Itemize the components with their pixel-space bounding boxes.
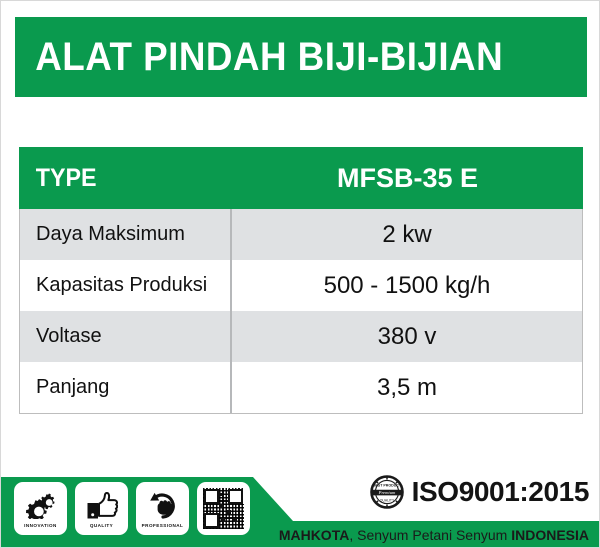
spec-row-label: Daya Maksimum: [20, 209, 232, 260]
svg-text:Premium: Premium: [377, 490, 395, 495]
gears-icon: [24, 489, 58, 523]
header-banner: ALAT PINDAH BIJI-BIJIAN: [15, 17, 587, 97]
badge-group: INNOVATION QUALITY: [14, 482, 250, 535]
spec-row-value: 2 kw: [232, 209, 582, 260]
brand-tagline: MAHKOTA, Senyum Petani Senyum INDONESIA: [279, 527, 589, 543]
tagline-middle: , Senyum Petani Senyum: [349, 527, 511, 543]
fist-arrow-icon: [147, 489, 179, 523]
spec-card: ALAT PINDAH BIJI-BIJIAN TYPE MFSB-35 E D…: [0, 0, 600, 548]
spec-row-label: Voltase: [20, 311, 232, 362]
badge-caption: INNOVATION: [24, 524, 57, 529]
badge-quality: QUALITY: [75, 482, 128, 535]
qr-code-icon[interactable]: [203, 486, 244, 530]
badge-professional: PROFESSIONAL: [136, 482, 189, 535]
footer: INNOVATION QUALITY: [1, 473, 599, 547]
iso-label: ISO9001:2015: [412, 476, 589, 508]
spec-table-body: Daya Maksimum 2 kw Kapasitas Produksi 50…: [19, 209, 583, 414]
spec-row-value: 380 v: [232, 311, 582, 362]
spec-row-label: Kapasitas Produksi: [20, 260, 232, 311]
svg-text:QUALITY: QUALITY: [379, 499, 394, 503]
badge-caption: PROFESSIONAL: [142, 524, 184, 529]
tagline-country: INDONESIA: [511, 527, 589, 543]
spec-header-label: TYPE: [19, 164, 217, 193]
spec-row-value: 3,5 m: [232, 362, 582, 413]
badge-caption: QUALITY: [90, 524, 113, 529]
badge-qr-code[interactable]: [197, 482, 250, 535]
tagline-brand: MAHKOTA: [279, 527, 350, 543]
page-title: ALAT PINDAH BIJI-BIJIAN: [15, 37, 503, 77]
table-row: Voltase 380 v: [20, 311, 582, 362]
spec-table-header-row: TYPE MFSB-35 E: [19, 147, 583, 209]
badge-innovation: INNOVATION: [14, 482, 67, 535]
spec-row-value: 500 - 1500 kg/h: [232, 260, 582, 311]
svg-text:BEST PRODUCT: BEST PRODUCT: [372, 484, 401, 488]
thumbs-up-icon: [86, 489, 118, 523]
spec-table: TYPE MFSB-35 E Daya Maksimum 2 kw Kapasi…: [19, 147, 583, 414]
spec-header-value: MFSB-35 E: [232, 163, 583, 194]
spec-row-label: Panjang: [20, 362, 232, 413]
premium-seal-icon: BEST PRODUCT QUALITY Premium: [370, 475, 404, 509]
table-row: Daya Maksimum 2 kw: [20, 209, 582, 260]
table-row: Kapasitas Produksi 500 - 1500 kg/h: [20, 260, 582, 311]
iso-certification: BEST PRODUCT QUALITY Premium ISO9001:201…: [370, 475, 589, 509]
table-row: Panjang 3,5 m: [20, 362, 582, 413]
